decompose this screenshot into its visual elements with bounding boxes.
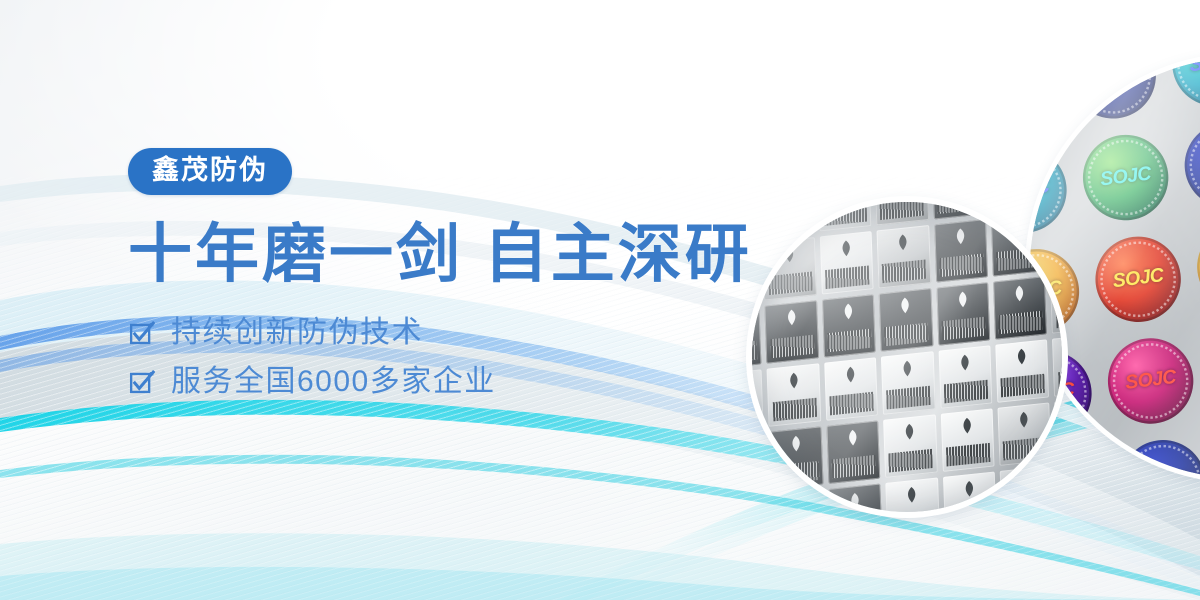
feature-list: 持续创新防伪技术 服务全国6000多家企业 <box>128 318 768 397</box>
check-square-icon <box>128 320 155 347</box>
brand-badge: 鑫茂防伪 <box>128 148 292 195</box>
list-item-label: 持续创新防伪技术 <box>171 318 423 348</box>
silver-label-grid-image <box>752 202 1062 512</box>
banner-content: 鑫茂防伪 十年磨一剑 自主深研 持续创新防伪技术 服务全国6000多家企业 <box>128 148 768 416</box>
silver-label-grid <box>752 202 1062 512</box>
list-item-label: 服务全国6000多家企业 <box>171 367 496 397</box>
list-item: 持续创新防伪技术 <box>128 318 768 348</box>
list-item: 服务全国6000多家企业 <box>128 367 768 397</box>
headline: 十年磨一剑 自主深研 <box>128 221 768 288</box>
check-square-icon <box>128 369 155 396</box>
promo-banner: SOJC SOJC SOJC SOJC SOJC SOJC SOJC SOJC … <box>0 0 1200 600</box>
